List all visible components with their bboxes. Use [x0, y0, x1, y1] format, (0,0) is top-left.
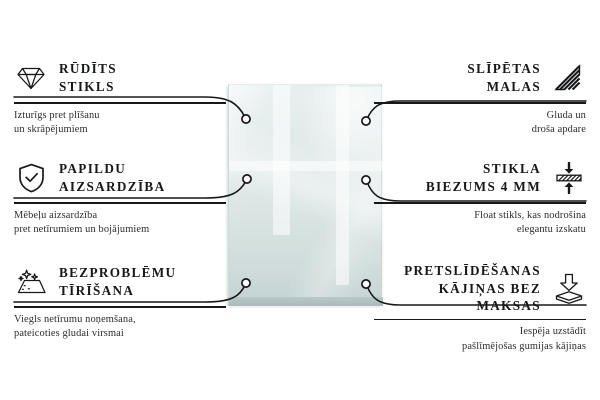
feature-heading: BEZPROBLĒMU TĪRĪŠANA	[14, 262, 226, 302]
feature-desc-line2: pateicoties gludai virsmai	[14, 327, 226, 342]
feature-description: Viegls netīrumu noņemšana, pateicoties g…	[14, 313, 226, 343]
feature-desc-line2: elegantu izskatu	[374, 223, 586, 238]
feature-title: PAPILDU AIZSARDZĪBA	[59, 160, 165, 195]
feature-title-line1: RŪDĪTS	[59, 60, 117, 78]
feature-title-line1: BEZPROBLĒMU	[59, 264, 176, 282]
feature-desc-line1: Float stikls, kas nodrošina	[374, 209, 586, 224]
feature-title: STIKLA BIEZUMS 4 MM	[426, 160, 541, 195]
feature-divider	[14, 102, 226, 104]
feature-title-line1: SLĪPĒTAS	[467, 60, 541, 78]
feature-title-line2: AIZSARDZĪBA	[59, 178, 165, 196]
feature-desc-line2: pret netīrumiem un bojājumiem	[14, 223, 226, 238]
infographic-canvas: RŪDĪTS STIKLS Izturīgs pret plīšanu un s…	[0, 0, 600, 400]
diamond-icon	[14, 61, 48, 95]
feature-description: Mēbeļu aizsardzība pret netīrumiem un bo…	[14, 209, 226, 239]
feature-desc-line1: Iespēja uzstādīt	[374, 325, 586, 340]
feature-title-line2: STIKLS	[59, 78, 117, 96]
feature-title-line2: BIEZUMS 4 MM	[426, 178, 541, 196]
feature-heading: RŪDĪTS STIKLS	[14, 58, 226, 98]
feature-title-line2: MALAS	[467, 78, 541, 96]
feature-block-easy-cleaning: BEZPROBLĒMU TĪRĪŠANA Viegls netīrumu noņ…	[14, 262, 226, 342]
reflection-sheen	[229, 85, 383, 307]
feature-block-extra-protection: PAPILDU AIZSARDZĪBA Mēbeļu aizsardzība p…	[14, 158, 226, 238]
feature-title-line1: PRETSLĪDĒŠANAS	[374, 262, 541, 280]
glass-surface	[228, 84, 382, 306]
feature-desc-line1: Izturīgs pret plīšanu	[14, 109, 226, 124]
sparkle-clean-icon	[14, 265, 48, 299]
feature-title-line1: STIKLA	[426, 160, 541, 178]
feature-description: Float stikls, kas nodrošina elegantu izs…	[374, 209, 586, 239]
feature-heading: PRETSLĪDĒŠANAS KĀJIŅAS BEZ MAKSAS	[374, 262, 586, 315]
feature-title-line1: PAPILDU	[59, 160, 165, 178]
glass-panel-image	[228, 84, 382, 306]
polished-edge-icon	[552, 61, 586, 95]
anti-slip-foot-icon	[552, 271, 586, 305]
glass-bottom-edge	[229, 297, 383, 306]
feature-divider	[14, 306, 226, 308]
feature-block-tempered-glass: RŪDĪTS STIKLS Izturīgs pret plīšanu un s…	[14, 58, 226, 138]
feature-block-anti-slip-feet: PRETSLĪDĒŠANAS KĀJIŅAS BEZ MAKSAS Iespēj…	[374, 262, 586, 355]
feature-block-glass-thickness: STIKLA BIEZUMS 4 MM Float stikls, kas no…	[374, 158, 586, 238]
feature-desc-line1: Mēbeļu aizsardzība	[14, 209, 226, 224]
feature-desc-line2: pašlīmējošas gumijas kājiņas	[374, 340, 586, 355]
feature-heading: PAPILDU AIZSARDZĪBA	[14, 158, 226, 198]
feature-description: Iespēja uzstādīt pašlīmējošas gumijas kā…	[374, 325, 586, 355]
feature-heading: SLĪPĒTAS MALAS	[374, 58, 586, 98]
feature-divider	[374, 202, 586, 204]
feature-title: RŪDĪTS STIKLS	[59, 60, 117, 95]
feature-desc-line2: un skrāpējumiem	[14, 123, 226, 138]
feature-desc-line1: Viegls netīrumu noņemšana,	[14, 313, 226, 328]
thickness-arrows-icon	[552, 161, 586, 195]
feature-description: Izturīgs pret plīšanu un skrāpējumiem	[14, 109, 226, 139]
feature-description: Gluda un droša apdare	[374, 109, 586, 139]
feature-desc-line1: Gluda un	[374, 109, 586, 124]
feature-divider	[14, 202, 226, 204]
feature-divider	[374, 319, 586, 321]
feature-title-line2: TĪRĪŠANA	[59, 282, 176, 300]
feature-title: BEZPROBLĒMU TĪRĪŠANA	[59, 264, 176, 299]
feature-block-polished-edges: SLĪPĒTAS MALAS Gluda un droša apdare	[374, 58, 586, 138]
feature-divider	[374, 102, 586, 104]
feature-title-line2: KĀJIŅAS BEZ MAKSAS	[374, 280, 541, 315]
feature-heading: STIKLA BIEZUMS 4 MM	[374, 158, 586, 198]
shield-check-icon	[14, 161, 48, 195]
feature-desc-line2: droša apdare	[374, 123, 586, 138]
feature-title: PRETSLĪDĒŠANAS KĀJIŅAS BEZ MAKSAS	[374, 262, 541, 315]
feature-title: SLĪPĒTAS MALAS	[467, 60, 541, 95]
